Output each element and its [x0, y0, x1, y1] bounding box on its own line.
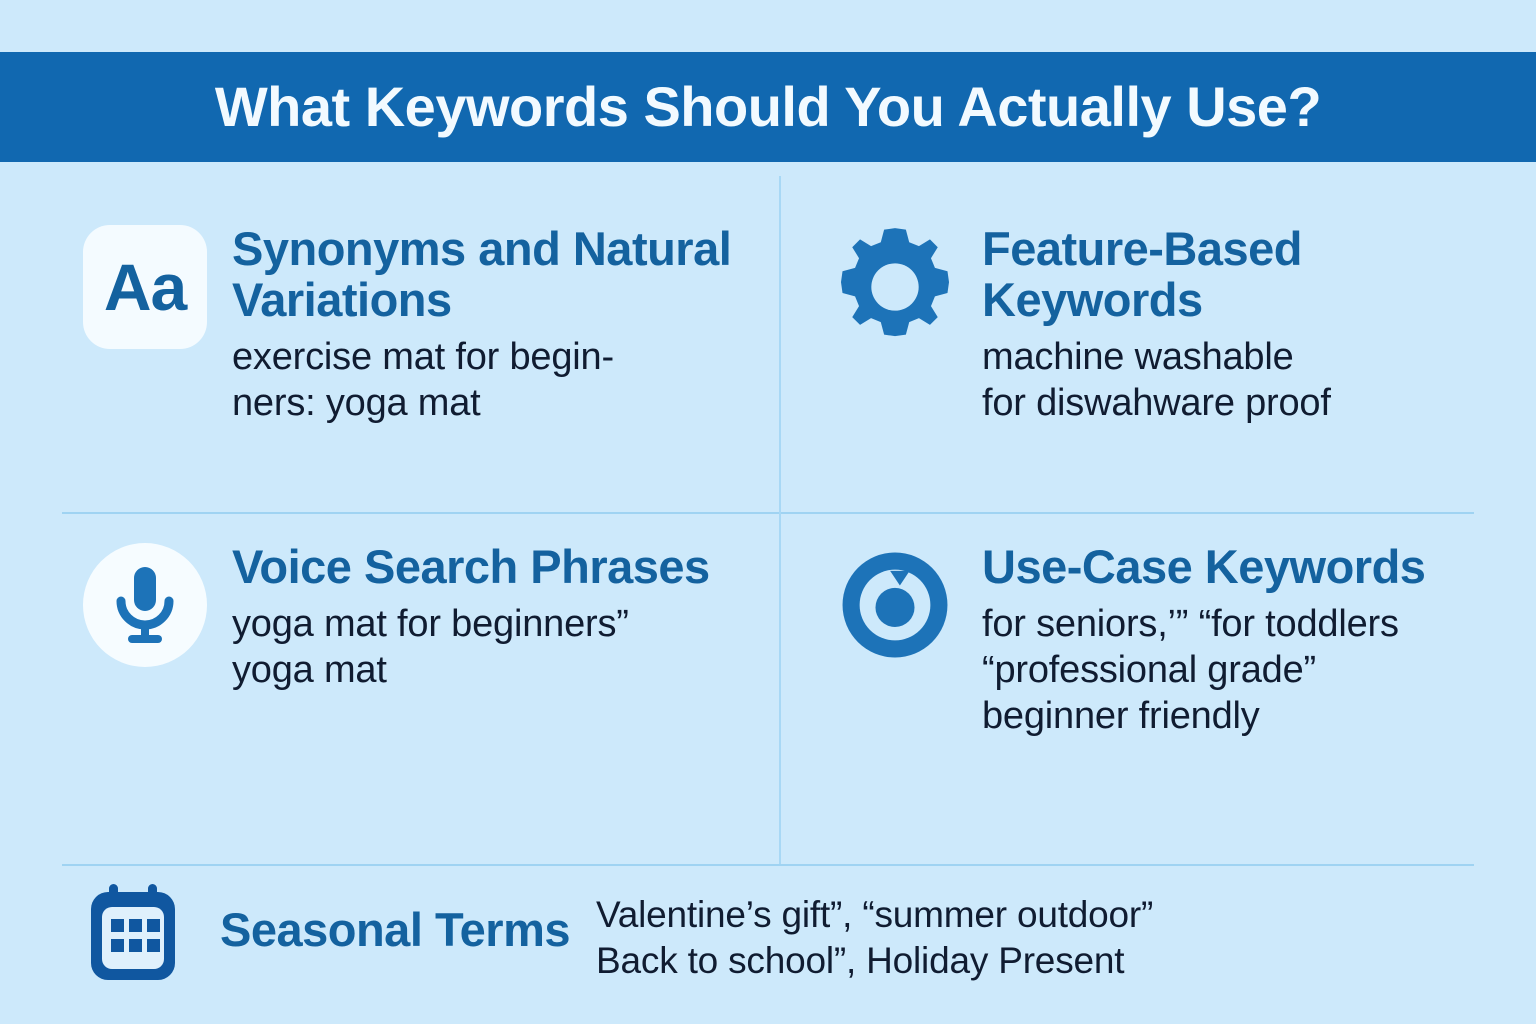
- card-text-line-2: ners: yoga mat: [232, 380, 760, 426]
- card-text-line-1: yoga mat for beginners”: [232, 601, 760, 647]
- card-feature-based: Feature-Based Keywords machine washable …: [830, 222, 1510, 426]
- card-body: Use-Case Keywords for seniors,’” “for to…: [960, 540, 1510, 740]
- card-text-line-2: yoga mat: [232, 647, 760, 693]
- card-title: Use-Case Keywords: [982, 542, 1510, 593]
- card-text-line-3: beginner friendly: [982, 693, 1510, 739]
- card-use-case: Use-Case Keywords for seniors,’” “for to…: [830, 540, 1510, 740]
- card-icon-wrapper: [80, 540, 210, 670]
- card-title: Voice Search Phrases: [232, 542, 760, 593]
- card-text-line-2: “professional grade”: [982, 647, 1510, 693]
- divider-horizontal-bottom: [62, 864, 1474, 866]
- card-body: Synonyms and Natural Variations exercise…: [210, 222, 760, 426]
- aa-letters-icon-label: Aa: [104, 254, 186, 320]
- card-title: Feature-Based Keywords: [982, 224, 1510, 326]
- aa-letters-icon: Aa: [83, 225, 207, 349]
- card-text-line-1: machine washable: [982, 334, 1510, 380]
- card-title: Synonyms and Natural Variations: [232, 224, 760, 326]
- calendar-icon: [85, 882, 185, 984]
- card-body: Voice Search Phrases yoga mat for beginn…: [210, 540, 760, 693]
- seasonal-terms-text: Valentine’s gift”, “summer outdoor” Back…: [570, 880, 1480, 985]
- page-title: What Keywords Should You Actually Use?: [215, 79, 1321, 135]
- gear-icon: [831, 223, 959, 351]
- seasonal-terms-line-1: Valentine’s gift”, “summer outdoor”: [596, 892, 1480, 938]
- header-bar: What Keywords Should You Actually Use?: [0, 52, 1536, 162]
- card-icon-wrapper: Aa: [80, 222, 210, 352]
- seasonal-terms-line-2: Back to school”, Holiday Present: [596, 938, 1480, 984]
- bottom-icon-wrapper: [80, 880, 190, 992]
- microphone-icon: [109, 563, 181, 647]
- divider-vertical: [779, 176, 781, 864]
- card-icon-wrapper: [830, 540, 960, 670]
- card-icon-wrapper: [830, 222, 960, 352]
- target-ring-icon: [834, 544, 956, 666]
- row-seasonal-terms: Seasonal Terms Valentine’s gift”, “summe…: [80, 880, 1480, 992]
- card-text-line-2: for diswahware proof: [982, 380, 1510, 426]
- card-text-line-1: for seniors,’” “for toddlers: [982, 601, 1510, 647]
- seasonal-terms-title: Seasonal Terms: [190, 880, 570, 957]
- card-body: Feature-Based Keywords machine washable …: [960, 222, 1510, 426]
- card-voice-search: Voice Search Phrases yoga mat for beginn…: [80, 540, 760, 693]
- card-text-line-1: exercise mat for begin-: [232, 334, 760, 380]
- card-synonyms: Aa Synonyms and Natural Variations exerc…: [80, 222, 760, 426]
- microphone-icon-backdrop: [83, 543, 207, 667]
- infographic-root: What Keywords Should You Actually Use? A…: [0, 0, 1536, 1024]
- divider-horizontal-top: [62, 512, 1474, 514]
